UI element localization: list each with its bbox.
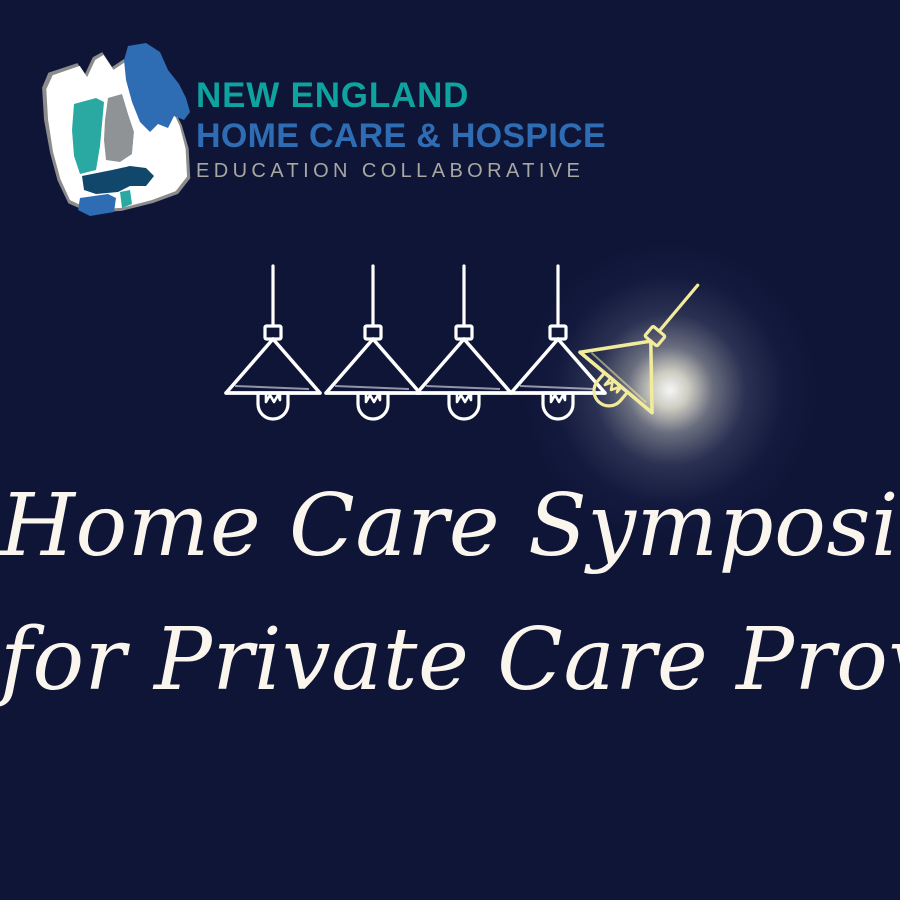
logo[interactable]: NEW ENGLAND HOME CARE & HOSPICE EDUCATIO… <box>34 36 674 226</box>
headline-line-1: Home Care Symposium <box>0 470 900 582</box>
pendant-lamp-3 <box>417 266 511 419</box>
poster-canvas: NEW ENGLAND HOME CARE & HOSPICE EDUCATIO… <box>0 0 900 900</box>
logo-line-education-collaborative: EDUCATION COLLABORATIVE <box>196 156 676 186</box>
headline: Home Care Symposium for Private Care Pro… <box>0 470 900 716</box>
pendant-lamp-1 <box>226 266 320 419</box>
logo-line-new-england: NEW ENGLAND <box>196 76 676 116</box>
logo-wordmark: NEW ENGLAND HOME CARE & HOSPICE EDUCATIO… <box>196 76 676 186</box>
pendant-lamp-2 <box>326 266 420 419</box>
pendant-lamps-illustration <box>0 220 900 500</box>
headline-line-2: for Private Care Providers <box>0 604 900 716</box>
logo-line-home-care-hospice: HOME CARE & HOSPICE <box>196 116 676 156</box>
new-england-map-icon <box>34 36 214 226</box>
pendant-lamp-5-lit <box>563 255 733 433</box>
pendant-lamp-4 <box>511 266 605 419</box>
